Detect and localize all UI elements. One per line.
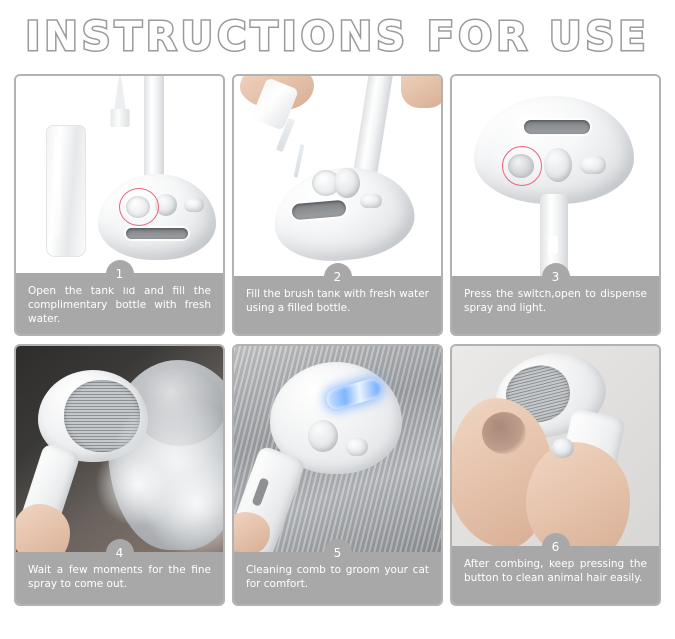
step-2-text: Fill the brush tank with fresh water usi…: [246, 287, 429, 315]
device-side-button: [184, 198, 204, 212]
step-4-number: 4: [106, 539, 134, 567]
water-bottle: [46, 125, 86, 257]
step-panel-3: 3 Press the switch,open to dispense spra…: [450, 74, 661, 336]
step-5-text: Cleaning comb to groom your cat for comf…: [246, 563, 429, 591]
step-1-photo: [16, 76, 223, 273]
step-6-caption: 6 After combing, keep pressing the butto…: [452, 546, 659, 604]
step-panel-6: 6 After combing, keep pressing the butto…: [450, 344, 661, 606]
step-2-photo: [234, 76, 441, 276]
page-title: INSTRUCTIONS FOR USE: [25, 14, 649, 60]
bottle-nozzle-tip: [114, 76, 126, 111]
step-6-text: After combing, keep pressing the button …: [464, 557, 647, 585]
step-panel-4: 4 Wait a few moments for the fine spray …: [14, 344, 225, 606]
water-window: [524, 120, 590, 134]
handle-clip: [548, 236, 558, 254]
spray-mist: [96, 442, 180, 526]
step-4-caption: 4 Wait a few moments for the fine spray …: [16, 552, 223, 604]
device-head: [98, 174, 216, 260]
device-knob: [308, 420, 338, 452]
step-3-number: 3: [542, 263, 570, 291]
collected-hair: [482, 412, 526, 454]
step-6-photo: [452, 346, 659, 546]
step-3-photo: [452, 76, 659, 276]
bottle-highlight: [54, 136, 61, 236]
step-panel-5: 5 Cleaning comb to groom your cat for co…: [232, 344, 443, 606]
step-5-caption: 5 Cleaning comb to groom your cat for co…: [234, 552, 441, 604]
bottle-neck: [110, 109, 129, 127]
step-5-number: 5: [324, 539, 352, 567]
step-4-photo: [16, 346, 223, 552]
tank-lid-highlight-ring: [119, 188, 159, 226]
instructions-page: INSTRUCTIONS FOR USE: [0, 0, 675, 639]
step-1-number: 1: [106, 260, 134, 288]
water-window: [126, 228, 188, 239]
step-2-caption: 2 Fill the brush tank with fresh water u…: [234, 276, 441, 334]
forearm: [401, 76, 441, 108]
step-panel-2: 2 Fill the brush tank with fresh water u…: [232, 74, 443, 336]
step-6-number: 6: [542, 533, 570, 561]
step-1-caption: 1 Open the tank lid and fill the complim…: [16, 273, 223, 334]
device-side-button: [346, 438, 368, 456]
device-handle: [144, 76, 164, 190]
page-header: INSTRUCTIONS FOR USE: [0, 0, 675, 74]
step-4-text: Wait a few moments for the fine spray to…: [28, 563, 211, 591]
step-3-text: Press the switch,open to dispense spray …: [464, 287, 647, 315]
step-panel-1: 1 Open the tank lid and fill the complim…: [14, 74, 225, 336]
step-1-text: Open the tank lid and fill the complimen…: [28, 284, 211, 326]
device-knob: [334, 168, 360, 198]
water-stream: [294, 144, 305, 178]
steps-grid: 1 Open the tank lid and fill the complim…: [0, 74, 675, 606]
release-button: [552, 438, 574, 458]
device-knob: [544, 148, 572, 182]
device-side-button: [360, 194, 382, 208]
device-side-button: [580, 156, 606, 174]
switch-highlight-ring: [502, 146, 542, 186]
step-3-caption: 3 Press the switch,open to dispense spra…: [452, 276, 659, 334]
step-2-number: 2: [324, 263, 352, 291]
step-5-photo: [234, 346, 441, 552]
